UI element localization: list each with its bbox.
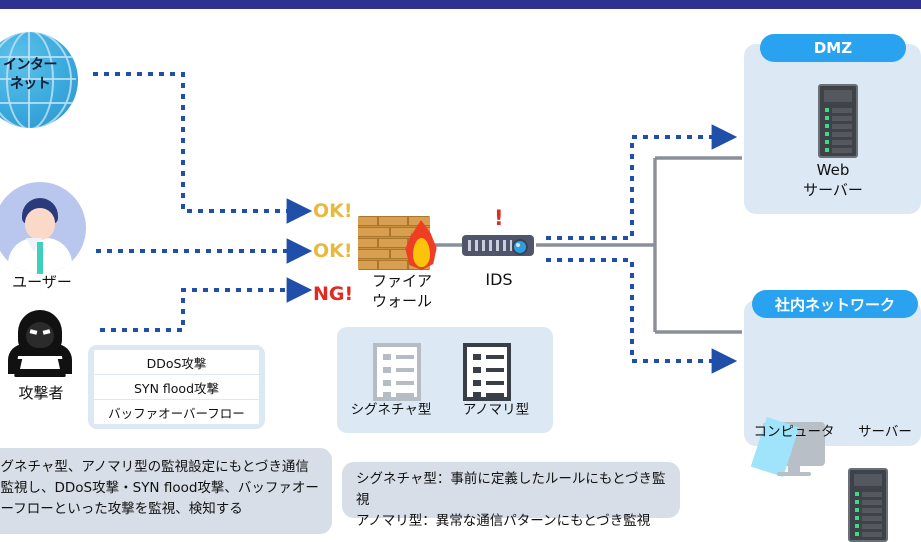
internet-label: インター ネット [0, 56, 78, 94]
alert-exclamation-icon: ! [494, 206, 504, 230]
internal-network-title-pill: 社内ネットワーク [752, 290, 918, 318]
list-item: SYN flood攻撃 [94, 375, 259, 399]
node-attacker[interactable] [2, 308, 78, 384]
hacker-icon [2, 308, 78, 384]
signature-type-label: シグネチャ型 [336, 402, 446, 419]
node-internet[interactable]: インター ネット [0, 32, 78, 128]
top-accent-bar [0, 0, 921, 9]
user-label: ユーザー [0, 273, 90, 292]
list-item: DDoS攻撃 [94, 350, 259, 374]
verdict-attacker: NG! [313, 283, 353, 305]
firewall-label: ファイア ウォール [352, 272, 452, 311]
node-firewall[interactable] [358, 216, 444, 272]
caption-signature-line: シグネチャ型：事前に定義したルールにもとづき監視 [356, 469, 666, 511]
list-item: バッファオーバーフロー [94, 400, 259, 424]
attacker-label: 攻撃者 [0, 384, 86, 403]
internal-server-icon[interactable] [848, 468, 888, 542]
node-ids[interactable] [462, 235, 540, 257]
verdict-user: OK! [313, 240, 353, 262]
user-avatar-icon [0, 182, 86, 274]
anomaly-list-icon [463, 343, 511, 401]
dmz-title-pill: DMZ [760, 34, 906, 62]
caption-ids-description: シグネチャ型、アノマリ型の監視設定にもとづき通信を監視し、DDoS攻撃・SYN … [0, 448, 332, 534]
ids-label: IDS [462, 270, 536, 290]
computer-label: コンピュータ [742, 424, 846, 441]
attack-type-list: DDoS攻撃 SYN flood攻撃 バッファオーバーフロー [88, 345, 265, 429]
anomaly-type-label: アノマリ型 [444, 402, 548, 419]
signature-list-icon [373, 343, 421, 401]
web-server-icon[interactable] [818, 84, 858, 158]
router-icon [462, 235, 534, 256]
internal-server-label: サーバー [840, 424, 921, 441]
node-user[interactable] [0, 182, 90, 278]
flame-icon [404, 220, 438, 270]
caption-detection-types: シグネチャ型：事前に定義したルールにもとづき監視 アノマリ型：異常な通信パターン… [342, 462, 680, 518]
verdict-internet: OK! [313, 200, 353, 222]
caption-anomaly-line: アノマリ型：異常な通信パターンにもとづき監視 [356, 511, 666, 532]
web-server-label: Web サーバー [760, 160, 906, 201]
